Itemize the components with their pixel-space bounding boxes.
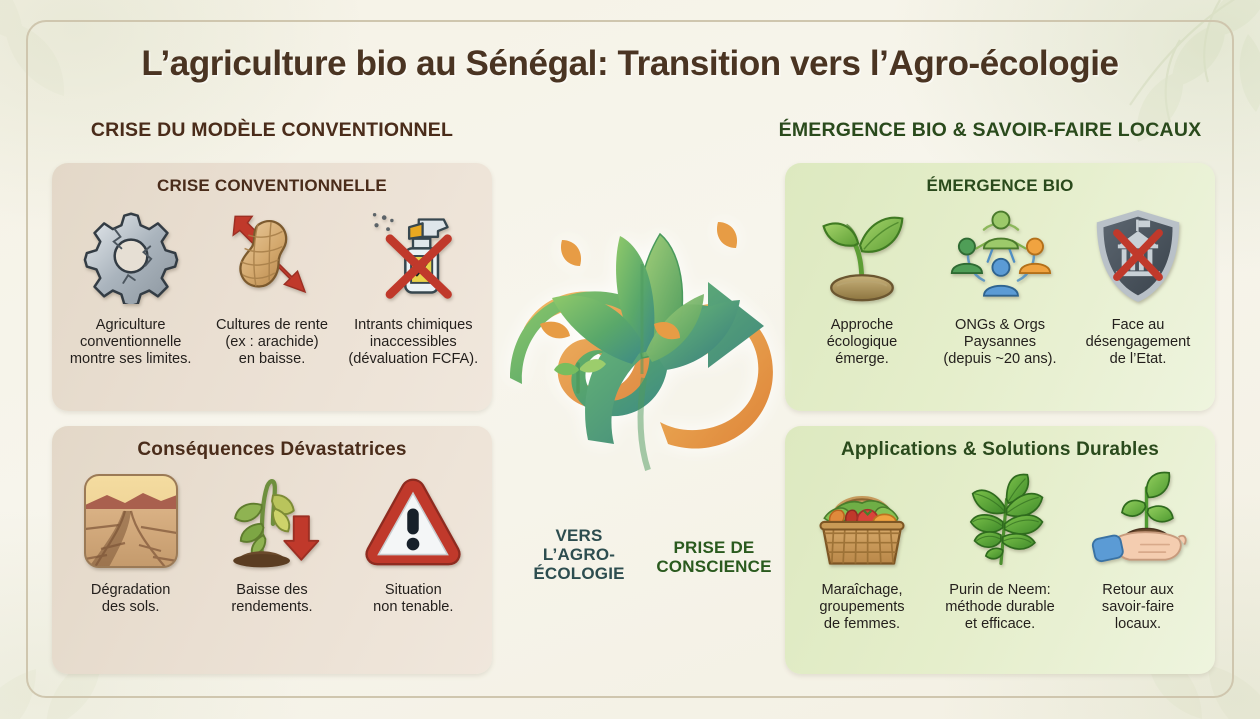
- center-label-vers-agroecologie: VERS L’AGRO- ÉCOLOGIE: [517, 524, 641, 594]
- panel-consequences-devastatrices: Conséquences Dévastatrices: [52, 426, 492, 674]
- panel-title: Conséquences Dévastatrices: [52, 426, 492, 461]
- list-item-caption: Approche écologique émerge.: [793, 310, 931, 369]
- panel-items: Dégradation des sols.: [52, 461, 492, 616]
- panel-crise-conventionnelle: CRISE CONVENTIONNELLE: [52, 163, 492, 411]
- list-item: Cultures de rente (ex : arachide) en bai…: [201, 202, 342, 369]
- list-item-caption: Situation non tenable.: [343, 575, 484, 616]
- list-item: Purin de Neem: méthode durable et effica…: [931, 467, 1069, 634]
- list-item-caption: Dégradation des sols.: [60, 575, 201, 616]
- section-header-right: ÉMERGENCE BIO & SAVOIR-FAIRE LOCAUX: [760, 119, 1220, 142]
- list-item: Agriculture conventionnelle montre ses l…: [60, 202, 201, 369]
- list-item-caption: ONGs & Orgs Paysannes (depuis ~20 ans).: [931, 310, 1069, 369]
- list-item: Situation non tenable.: [343, 467, 484, 616]
- peanut-decline-icon: [201, 202, 342, 310]
- section-header-left: CRISE DU MODÈLE CONVENTIONNEL: [52, 119, 492, 142]
- cracked-soil-icon: [60, 467, 201, 575]
- hand-holding-seedling-icon: [1069, 467, 1207, 575]
- list-item: Maraîchage, groupements de femmes.: [793, 467, 931, 634]
- center-label-prise-de-conscience: PRISE DE CONSCIENCE: [655, 524, 773, 594]
- growth-leaf-cycle-arrow-emblem: [492, 178, 792, 508]
- panel-title: Applications & Solutions Durables: [785, 426, 1215, 461]
- list-item: Dégradation des sols.: [60, 467, 201, 616]
- list-item: Face au désengagement de l’Etat.: [1069, 202, 1207, 369]
- list-item-caption: Retour aux savoir-faire locaux.: [1069, 575, 1207, 634]
- list-item: Retour aux savoir-faire locaux.: [1069, 467, 1207, 634]
- center-labels: VERS L’AGRO- ÉCOLOGIE PRISE DE CONSCIENC…: [500, 524, 790, 594]
- panel-emergence-bio: ÉMERGENCE BIO: [785, 163, 1215, 411]
- list-item: Baisse des rendements.: [201, 467, 342, 616]
- list-item-caption: Agriculture conventionnelle montre ses l…: [60, 310, 201, 369]
- panel-items: Approche écologique émerge.: [785, 196, 1215, 369]
- shield-banned-government-icon: [1069, 202, 1207, 310]
- panel-title: CRISE CONVENTIONNELLE: [52, 163, 492, 196]
- list-item-caption: Purin de Neem: méthode durable et effica…: [931, 575, 1069, 634]
- list-item: Intrants chimiques inaccessibles (dévalu…: [343, 202, 484, 369]
- list-item-caption: Intrants chimiques inaccessibles (dévalu…: [343, 310, 484, 369]
- wilting-plant-down-arrow-icon: [201, 467, 342, 575]
- list-item-caption: Maraîchage, groupements de femmes.: [793, 575, 931, 634]
- cracked-gear-icon: [60, 202, 201, 310]
- vegetable-basket-icon: [793, 467, 931, 575]
- panel-title: ÉMERGENCE BIO: [785, 163, 1215, 196]
- list-item: ONGs & Orgs Paysannes (depuis ~20 ans).: [931, 202, 1069, 369]
- list-item-caption: Baisse des rendements.: [201, 575, 342, 616]
- people-network-icon: [931, 202, 1069, 310]
- list-item-caption: Face au désengagement de l’Etat.: [1069, 310, 1207, 369]
- infographic-poster: L’agriculture bio au Sénégal: Transition…: [0, 0, 1260, 719]
- seedling-icon: [793, 202, 931, 310]
- panel-items: Agriculture conventionnelle montre ses l…: [52, 196, 492, 369]
- list-item: Approche écologique émerge.: [793, 202, 931, 369]
- leaf-watermark-icon: [1020, 0, 1260, 180]
- page-title: L’agriculture bio au Sénégal: Transition…: [0, 44, 1260, 84]
- neem-leaf-icon: [931, 467, 1069, 575]
- banned-spray-bottle-icon: [343, 202, 484, 310]
- list-item-caption: Cultures de rente (ex : arachide) en bai…: [201, 310, 342, 369]
- warning-triangle-icon: [343, 467, 484, 575]
- panel-applications-solutions: Applications & Solutions Durables: [785, 426, 1215, 674]
- panel-items: Maraîchage, groupements de femmes.: [785, 461, 1215, 634]
